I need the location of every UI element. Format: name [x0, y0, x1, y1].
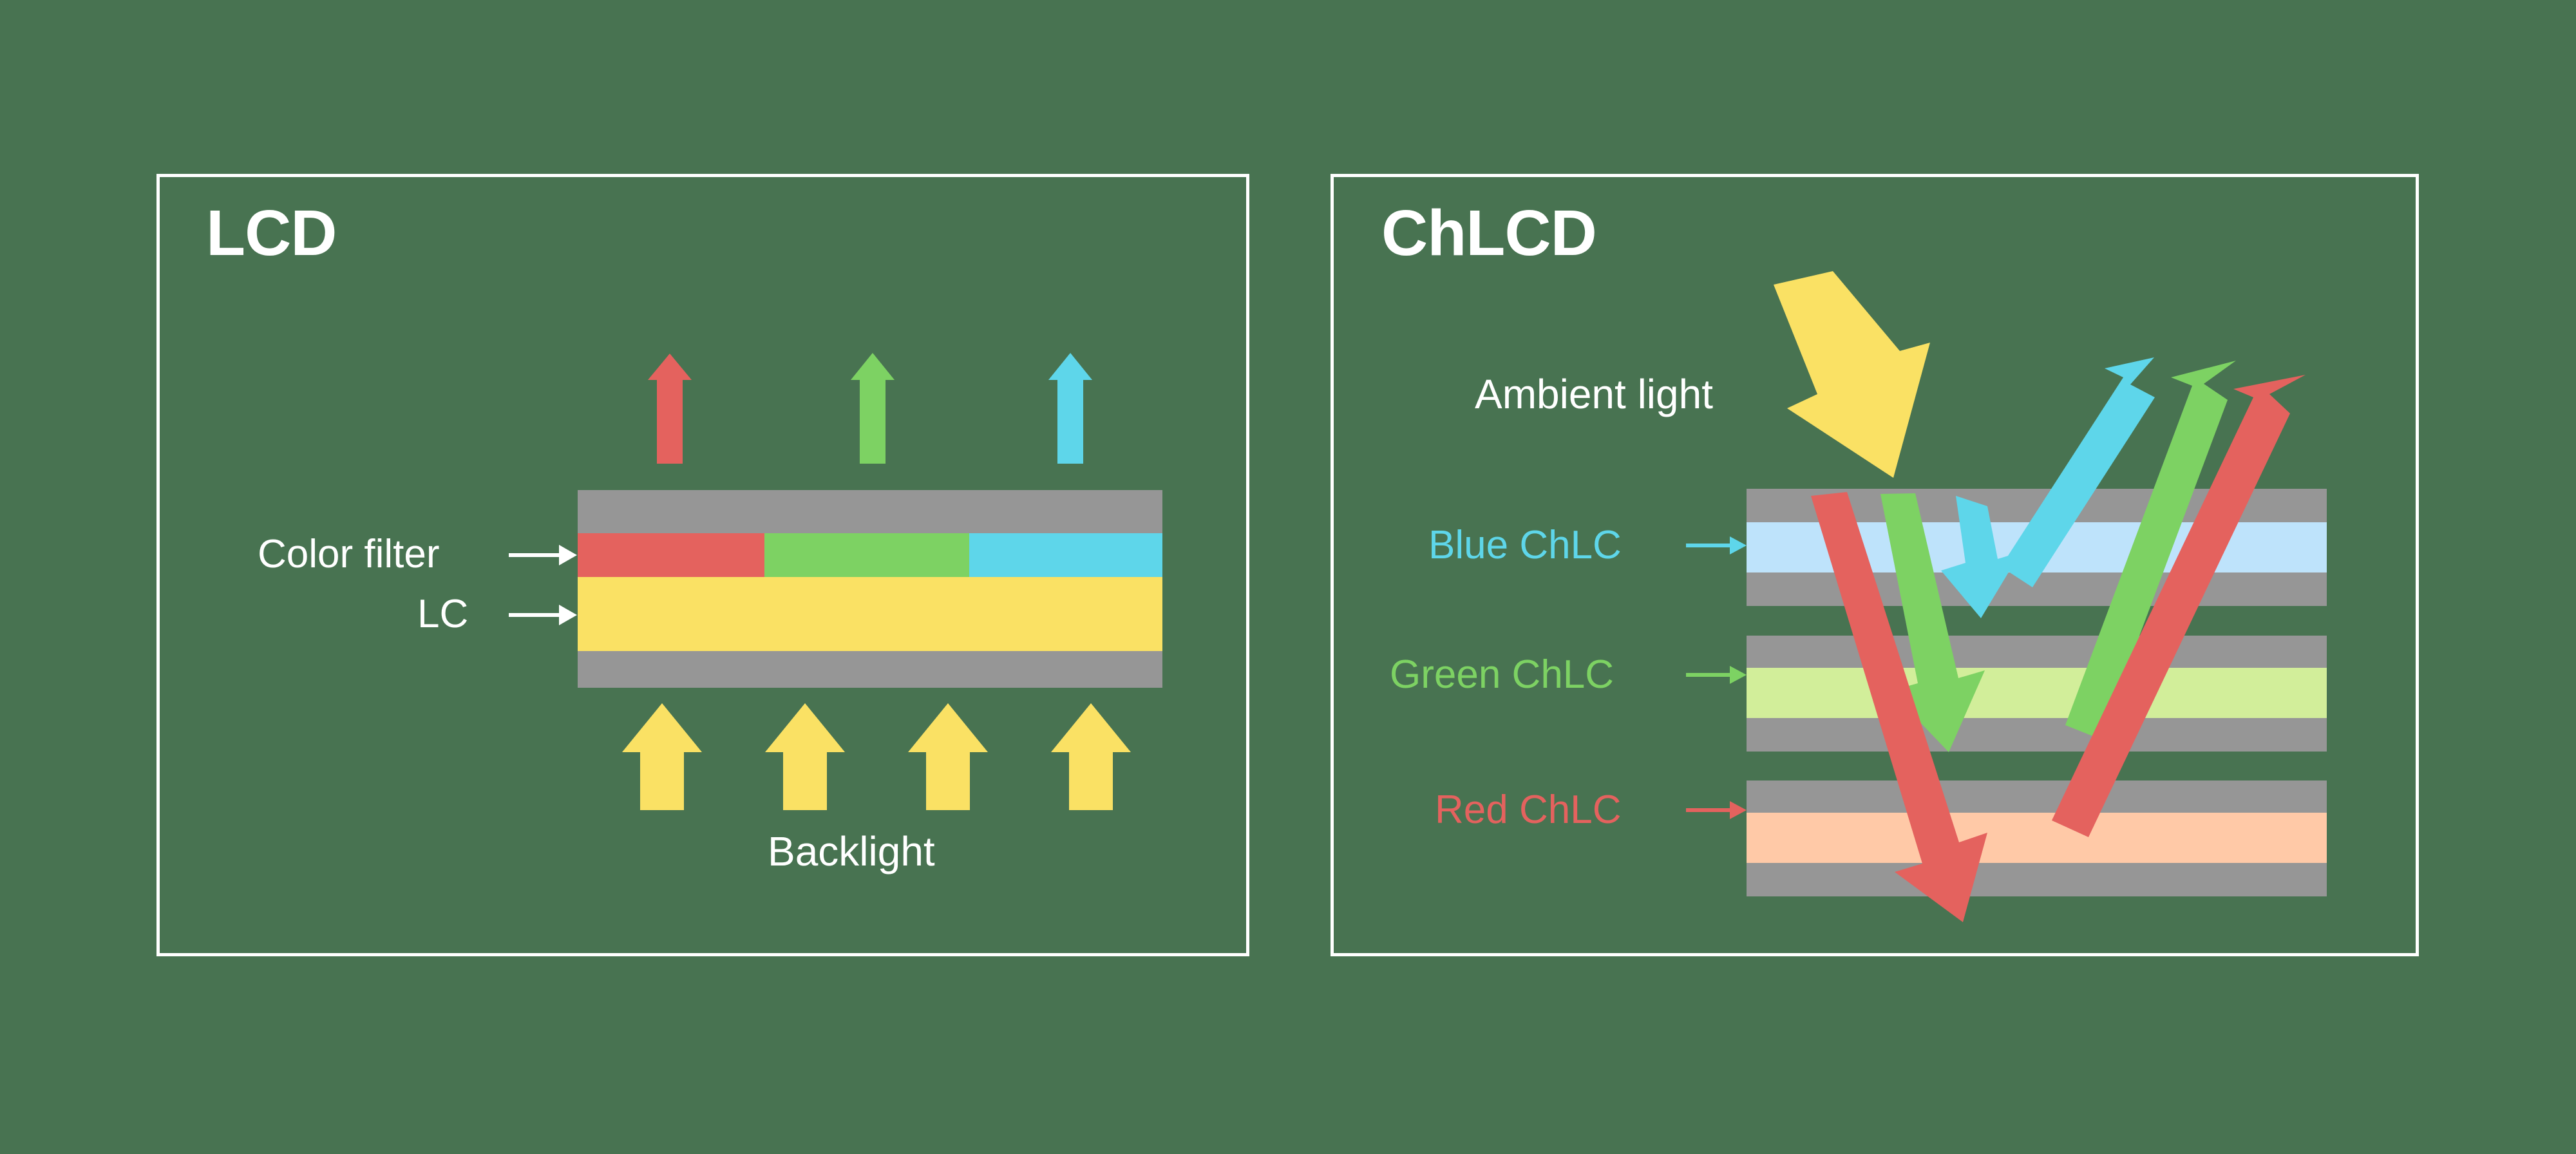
red-chlc-label: Red ChLC [1435, 790, 1621, 830]
lcd-panel-title: LCD [206, 201, 337, 265]
ambient-light-label: Ambient light [1475, 374, 1713, 415]
diagram-canvas: LCD [0, 0, 2576, 1154]
lc-label: LC [417, 594, 468, 634]
color-filter-label: Color filter [258, 534, 440, 574]
backlight-label: Backlight [768, 831, 935, 872]
chlcd-panel-title: ChLCD [1381, 201, 1596, 265]
green-chlc-label: Green ChLC [1390, 655, 1614, 695]
blue-chlc-label: Blue ChLC [1428, 525, 1622, 565]
